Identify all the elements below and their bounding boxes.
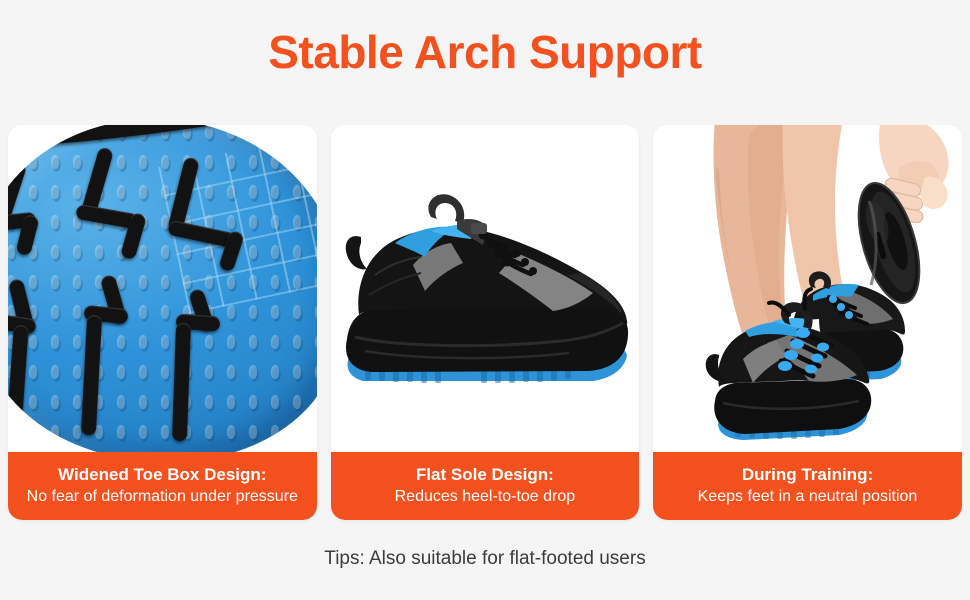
outsole-photo xyxy=(8,125,317,452)
sneaker-photo xyxy=(331,125,640,452)
feature-caption-widened-toe-box: Widened Toe Box Design: No fear of defor… xyxy=(8,452,317,520)
feature-card-row: Widened Toe Box Design: No fear of defor… xyxy=(8,125,962,520)
feature-caption-during-training: During Training: Keeps feet in a neutral… xyxy=(653,452,962,520)
caption-title: During Training: xyxy=(742,464,873,485)
caption-subtitle: Keeps feet in a neutral position xyxy=(698,487,918,508)
feature-card-flat-sole[interactable]: Flat Sole Design: Reduces heel-to-toe dr… xyxy=(331,125,640,520)
training-illustration: K xyxy=(653,125,962,452)
feature-caption-flat-sole: Flat Sole Design: Reduces heel-to-toe dr… xyxy=(331,452,640,520)
sneaker-side-illustration xyxy=(331,125,640,452)
outsole-body xyxy=(8,125,317,452)
caption-title: Flat Sole Design: xyxy=(416,464,554,485)
caption-subtitle: No fear of deformation under pressure xyxy=(27,487,298,508)
training-photo-image: K xyxy=(653,125,962,452)
outsole-closeup-image xyxy=(8,125,317,452)
training-photo: K xyxy=(653,125,962,452)
caption-title: Widened Toe Box Design: xyxy=(58,464,266,485)
feature-card-during-training[interactable]: K xyxy=(653,125,962,520)
promo-banner: Stable Arch Support xyxy=(0,0,970,600)
feature-card-widened-toe-box[interactable]: Widened Toe Box Design: No fear of defor… xyxy=(8,125,317,520)
caption-subtitle: Reduces heel-to-toe drop xyxy=(395,487,576,508)
page-title: Stable Arch Support xyxy=(0,26,970,79)
sneaker-profile-image xyxy=(331,125,640,452)
tips-text: Tips: Also suitable for flat-footed user… xyxy=(0,548,970,570)
